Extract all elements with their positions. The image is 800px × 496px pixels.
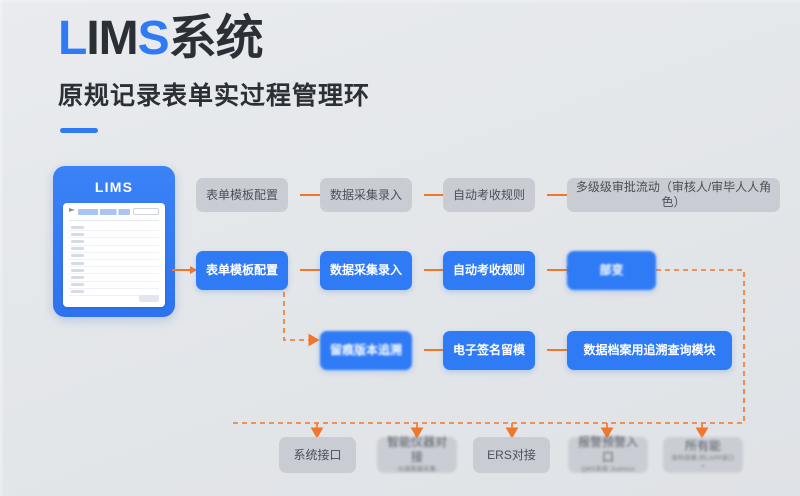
node-bottom-2-label: 智能仪器对接 (385, 435, 449, 465)
node-third-2[interactable]: 电子签名留模 (443, 331, 535, 370)
title-letter-s: S (138, 12, 169, 65)
dashed-link-main-to-third (284, 292, 318, 340)
document-row-label (71, 254, 84, 257)
flag-icon (69, 208, 75, 215)
document-row (69, 231, 159, 238)
node-bottom-1[interactable]: 系统接口 (279, 437, 356, 473)
header: LIMS系统 原规记录表单实过程管理环 (58, 14, 370, 133)
document-row-label (71, 276, 84, 279)
node-main-1[interactable]: 表单模板配置 (196, 251, 288, 290)
node-main-4[interactable]: 部变 (567, 251, 656, 290)
node-bottom-4-label: 报警预警入口 (576, 435, 640, 465)
document-action-button[interactable] (133, 208, 159, 215)
arrow-card-to-main (172, 269, 196, 271)
document-footer-button[interactable] (139, 295, 159, 302)
document-row (69, 238, 159, 245)
page-title: LIMS系统 (58, 14, 370, 64)
node-third-3[interactable]: 数据档案用追溯查询模块 (567, 331, 732, 370)
page-subtitle: 原规记录表单实过程管理环 (58, 76, 370, 112)
document-row-label (71, 262, 84, 265)
node-top-1[interactable]: 表单模板配置 (196, 178, 288, 212)
document-row-label (71, 247, 84, 250)
node-bottom-5-sublabel: 架构规模,同LAPP接口= (671, 456, 735, 471)
document-row-label (71, 269, 84, 272)
document-row (69, 267, 159, 274)
accent-rule (60, 128, 98, 133)
document-header (69, 208, 159, 215)
document-row-label (71, 290, 84, 293)
document-row-label (71, 283, 84, 286)
node-bottom-5[interactable]: 所有能 架构规模,同LAPP接口= (663, 437, 743, 473)
title-cn: 系统 (169, 12, 263, 65)
document-row-label (71, 240, 84, 243)
node-bottom-2-stack: 智能仪器对接 -仪器数据采集- (385, 435, 449, 475)
node-bottom-1-stack: 系统接口 (293, 448, 341, 463)
document-divider (69, 220, 159, 221)
document-row-label (71, 233, 84, 236)
node-bottom-4-stack: 报警预警入口 QMS系统 Jcahnco (576, 435, 640, 475)
diagram-canvas: LIMS系统 原规记录表单实过程管理环 LIMS (0, 0, 800, 496)
document-row (69, 246, 159, 253)
node-bottom-2[interactable]: 智能仪器对接 -仪器数据采集- (377, 437, 457, 473)
title-letter-l: L (58, 12, 86, 65)
node-bottom-1-label: 系统接口 (293, 448, 341, 463)
node-bottom-2-sublabel: -仪器数据采集- (396, 467, 438, 475)
node-third-1[interactable]: 留痕版本追溯 (320, 331, 412, 370)
node-main-2[interactable]: 数据采集录入 (320, 251, 412, 290)
node-top-2[interactable]: 数据采集录入 (320, 178, 412, 212)
node-bottom-5-stack: 所有能 架构规模,同LAPP接口= (671, 439, 735, 471)
node-bottom-5-label: 所有能 (685, 439, 721, 454)
document-title-placeholder (78, 209, 130, 215)
document-row (69, 224, 159, 231)
document-row (69, 253, 159, 260)
node-main-3[interactable]: 自动考收规则 (443, 251, 535, 290)
lims-device-card: LIMS (53, 166, 175, 317)
title-letters-im: IM (86, 12, 137, 65)
document-row (69, 274, 159, 281)
document-row-label (71, 226, 84, 229)
document-row (69, 260, 159, 267)
node-bottom-4[interactable]: 报警预警入口 QMS系统 Jcahnco (568, 437, 648, 473)
document-row (69, 282, 159, 289)
document-row-list (69, 224, 159, 296)
node-bottom-3[interactable]: ERS对接 (473, 437, 550, 473)
lims-card-brand: LIMS (53, 179, 175, 195)
node-top-3[interactable]: 自动考收规则 (443, 178, 535, 212)
node-bottom-3-stack: ERS对接 (487, 448, 536, 463)
node-bottom-4-sublabel: QMS系统 Jcahnco (581, 467, 635, 475)
lims-document-mockup (63, 203, 165, 307)
node-bottom-3-label: ERS对接 (487, 448, 536, 463)
node-top-4[interactable]: 多级级审批流动（审核人/审毕人人角色） (567, 178, 780, 212)
